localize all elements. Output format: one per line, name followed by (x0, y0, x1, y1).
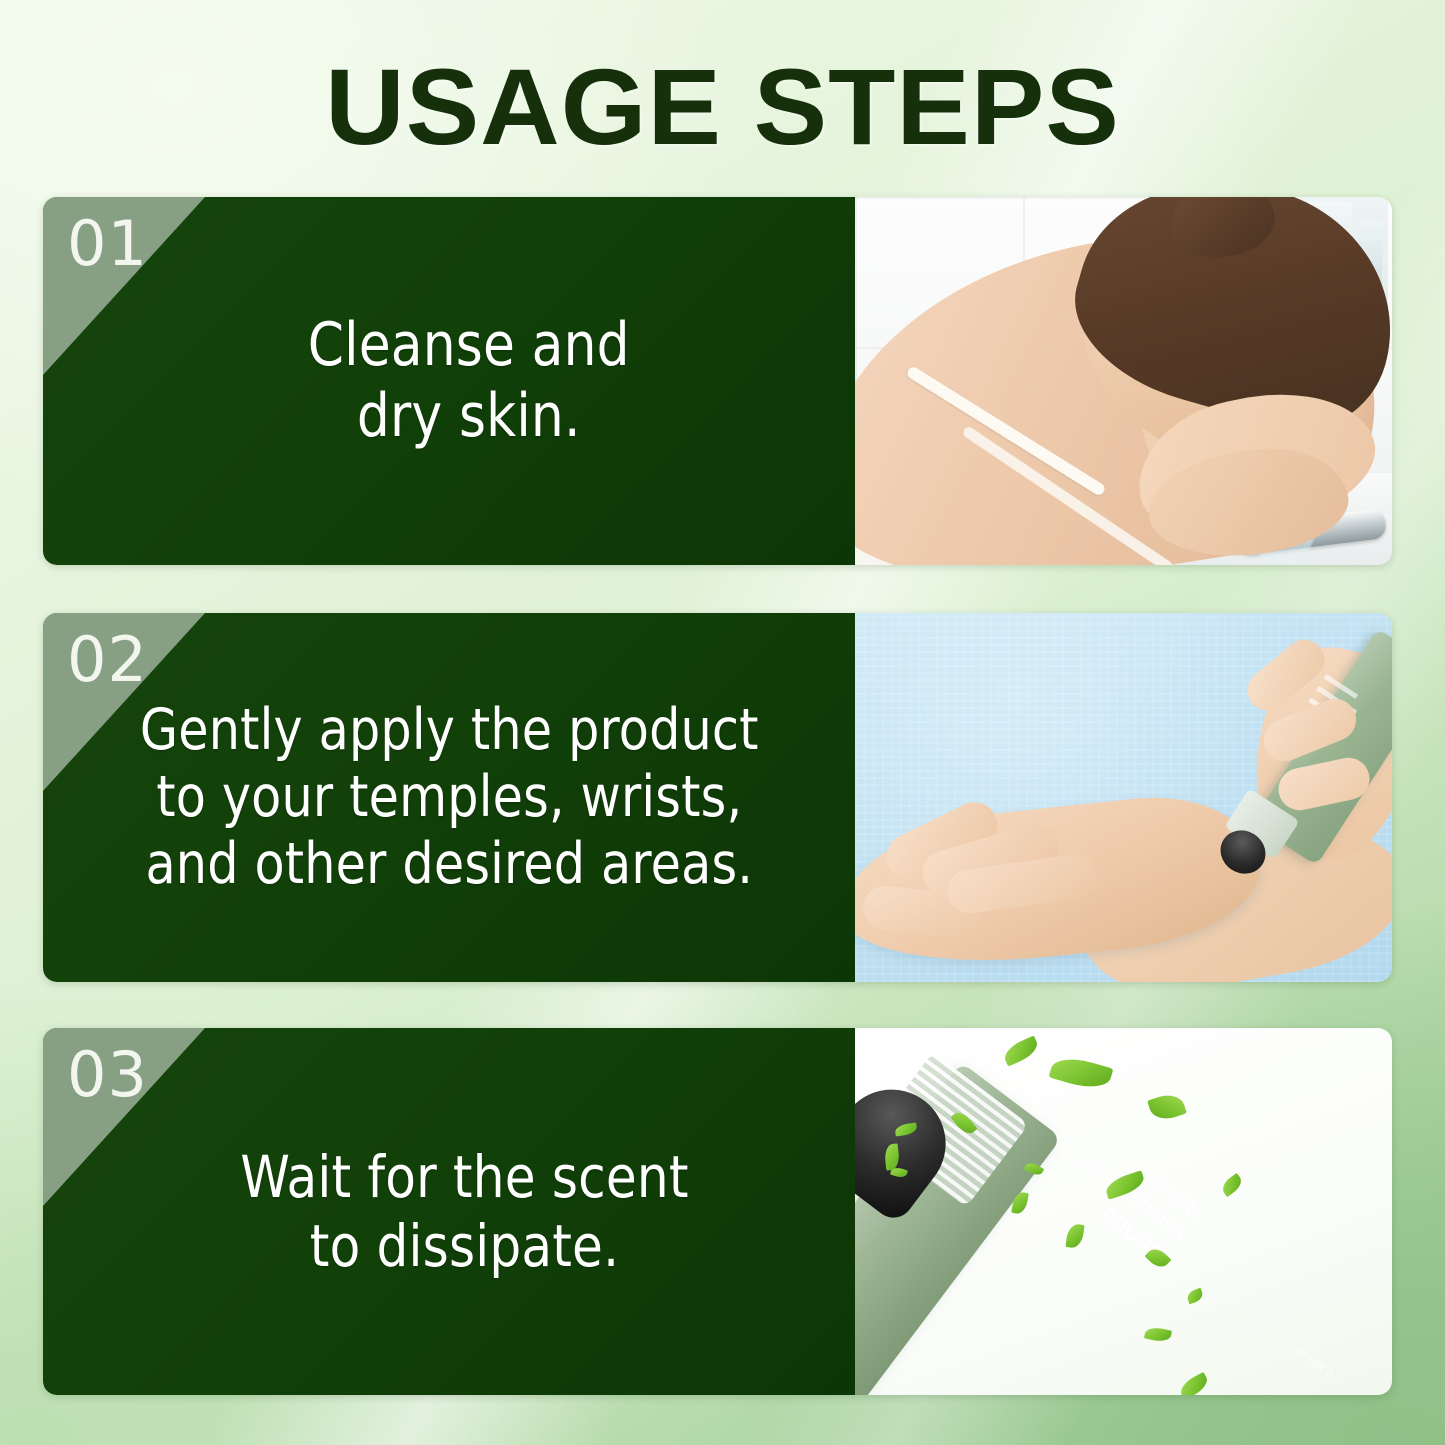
step-card-1: 01 Cleanse and dry skin. (43, 197, 1392, 565)
step-3-number: 03 (67, 1044, 148, 1106)
leaf-icon (1001, 1035, 1041, 1066)
bottle-volume: 0.34Fl oz (1293, 1343, 1336, 1380)
bottle-label-text: Gentle Vertigo Relief Roll-On (1054, 1127, 1208, 1274)
step-3-photo-bottle-with-leaves: Gentle Vertigo Relief Roll-On 0.34Fl oz (855, 1028, 1392, 1395)
leaf-icon (1144, 1325, 1172, 1343)
step-1-instruction: Cleanse and dry skin. (279, 310, 659, 452)
step-3-instruction: Wait for the scent to dissipate. (211, 1143, 717, 1280)
leaf-icon (1147, 1090, 1187, 1123)
step-1-line-1: Cleanse and (308, 310, 630, 381)
usage-steps-infographic: USAGE STEPS 01 Cleanse and dry skin. (0, 0, 1445, 1445)
step-1-number: 01 (67, 213, 148, 275)
leaf-icon (1049, 1052, 1114, 1094)
step-card-2: 02 Gently apply the product to your temp… (43, 613, 1392, 982)
step-2-number: 02 (67, 629, 148, 691)
step-1-text-pane: 01 Cleanse and dry skin. (43, 197, 855, 565)
step-card-3: 03 Wait for the scent to dissipate. Gent… (43, 1028, 1392, 1395)
leaf-icon (1065, 1223, 1084, 1249)
step-2-photo-applying-product (855, 613, 1392, 982)
leaf-icon (1219, 1173, 1245, 1197)
step-1-photo-washing-face (855, 197, 1392, 565)
step-2-instruction: Gently apply the product to your temples… (111, 697, 787, 899)
leaf-icon (1185, 1288, 1204, 1305)
page-title: USAGE STEPS (0, 44, 1445, 169)
leaf-icon (1177, 1372, 1211, 1395)
step-3-line-1: Wait for the scent (240, 1143, 688, 1211)
step-2-line-1: Gently apply the product (140, 697, 759, 764)
step-2-text-pane: 02 Gently apply the product to your temp… (43, 613, 855, 982)
step-1-line-2: dry skin. (308, 381, 630, 452)
step-3-line-2: to dissipate. (240, 1212, 688, 1280)
step-2-line-3: and other desired areas. (140, 831, 759, 898)
step-3-text-pane: 03 Wait for the scent to dissipate. (43, 1028, 855, 1395)
step-2-line-2: to your temples, wrists, (140, 764, 759, 831)
